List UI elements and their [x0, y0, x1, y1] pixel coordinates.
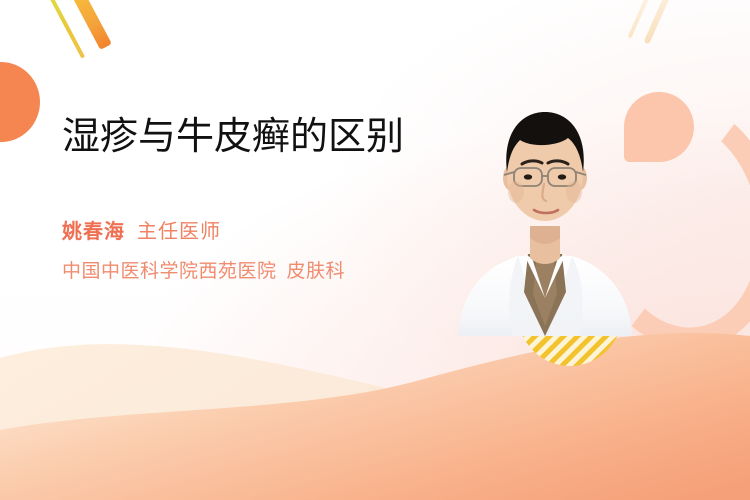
video-cover-slide: 湿疹与牛皮癣的区别 姚春海主任医师 中国中医科学院西苑医院皮肤科 [0, 0, 750, 500]
cover-text-block: 湿疹与牛皮癣的区别 姚春海主任医师 中国中医科学院西苑医院皮肤科 [62, 116, 412, 283]
presenter-name: 姚春海 [62, 221, 125, 243]
presenter-affiliation: 中国中医科学院西苑医院皮肤科 [62, 256, 412, 283]
presenter-byline: 姚春海主任医师 [62, 215, 412, 244]
presenter-rank: 主任医师 [137, 221, 221, 243]
presenter-department: 皮肤科 [287, 261, 346, 282]
doctor-portrait [440, 86, 650, 346]
presenter-hospital: 中国中医科学院西苑医院 [62, 261, 277, 282]
page-title: 湿疹与牛皮癣的区别 [62, 116, 412, 159]
